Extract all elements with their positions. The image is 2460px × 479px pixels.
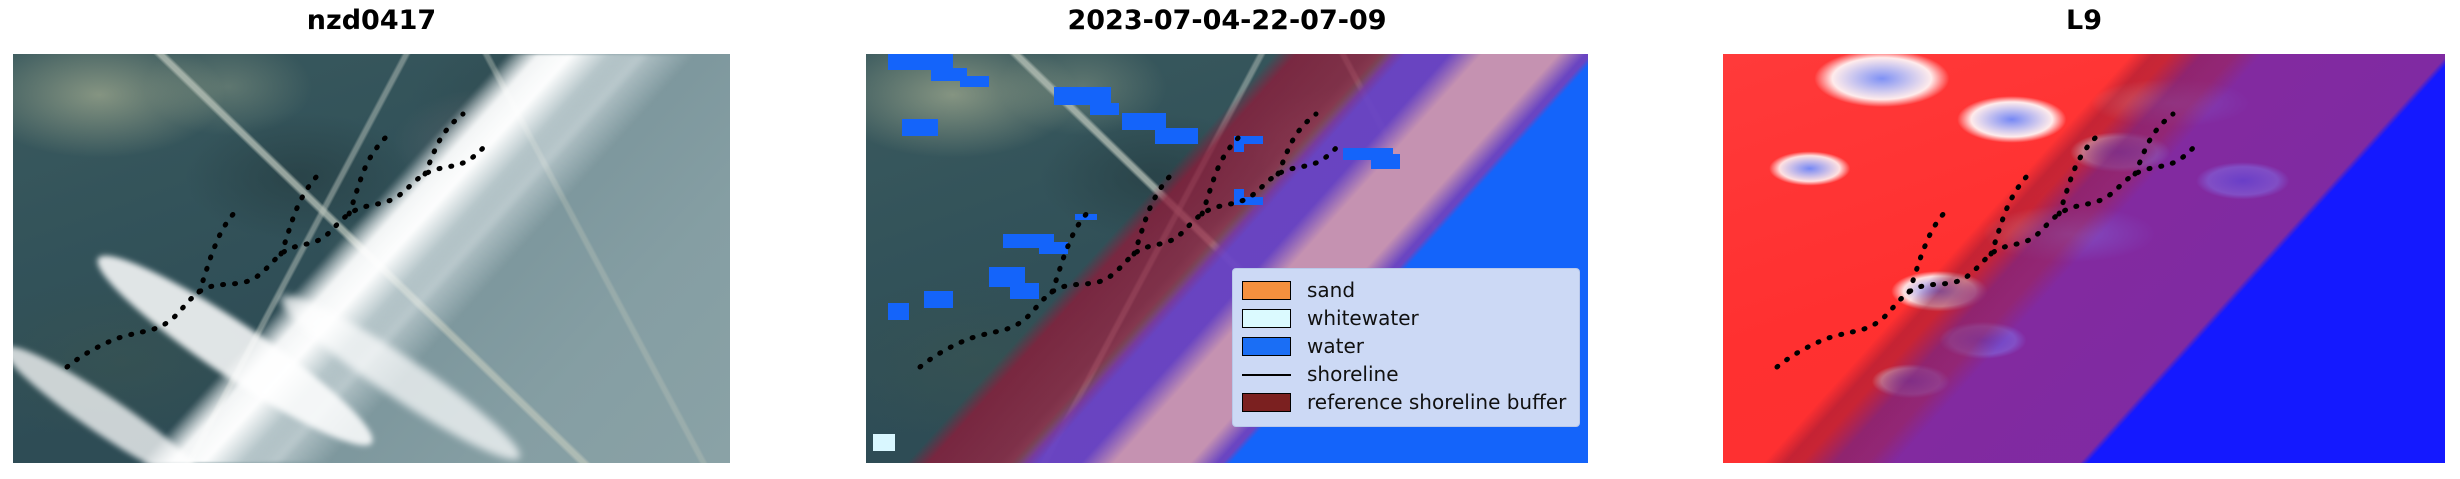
legend-item-reference-buffer: reference shoreline buffer [1242, 388, 1569, 416]
legend-swatch-sand-icon [1242, 281, 1291, 300]
legend-item-shoreline: shoreline [1242, 360, 1569, 388]
legend-label-reference-buffer: reference shoreline buffer [1307, 390, 1566, 414]
legend-swatch-shoreline-icon [1242, 365, 1291, 384]
legend-label-sand: sand [1307, 278, 1355, 302]
legend-box: sand whitewater water shoreline referenc… [1232, 268, 1580, 427]
panel-classified-image[interactable]: sand whitewater water shoreline referenc… [866, 54, 1588, 463]
panel-index-image[interactable] [1723, 54, 2445, 463]
legend-label-shoreline: shoreline [1307, 362, 1399, 386]
panel-title-classified: 2023-07-04-22-07-09 [866, 4, 1588, 38]
legend-swatch-reference-buffer-icon [1242, 393, 1291, 412]
legend-swatch-water-icon [1242, 337, 1291, 356]
shoreline-overlay-rgb [13, 54, 730, 463]
panel-title-rgb: nzd0417 [13, 4, 730, 38]
panel-rgb-image[interactable] [13, 54, 730, 463]
legend-item-whitewater: whitewater [1242, 304, 1569, 332]
legend-swatch-whitewater-icon [1242, 309, 1291, 328]
legend-item-water: water [1242, 332, 1569, 360]
panel-title-index: L9 [1723, 4, 2445, 38]
legend-item-sand: sand [1242, 276, 1569, 304]
figure-root: nzd0417 2023-07-04-22-07-09 [0, 0, 2460, 479]
legend-label-water: water [1307, 334, 1364, 358]
legend-label-whitewater: whitewater [1307, 306, 1419, 330]
shoreline-overlay-index [1723, 54, 2445, 463]
